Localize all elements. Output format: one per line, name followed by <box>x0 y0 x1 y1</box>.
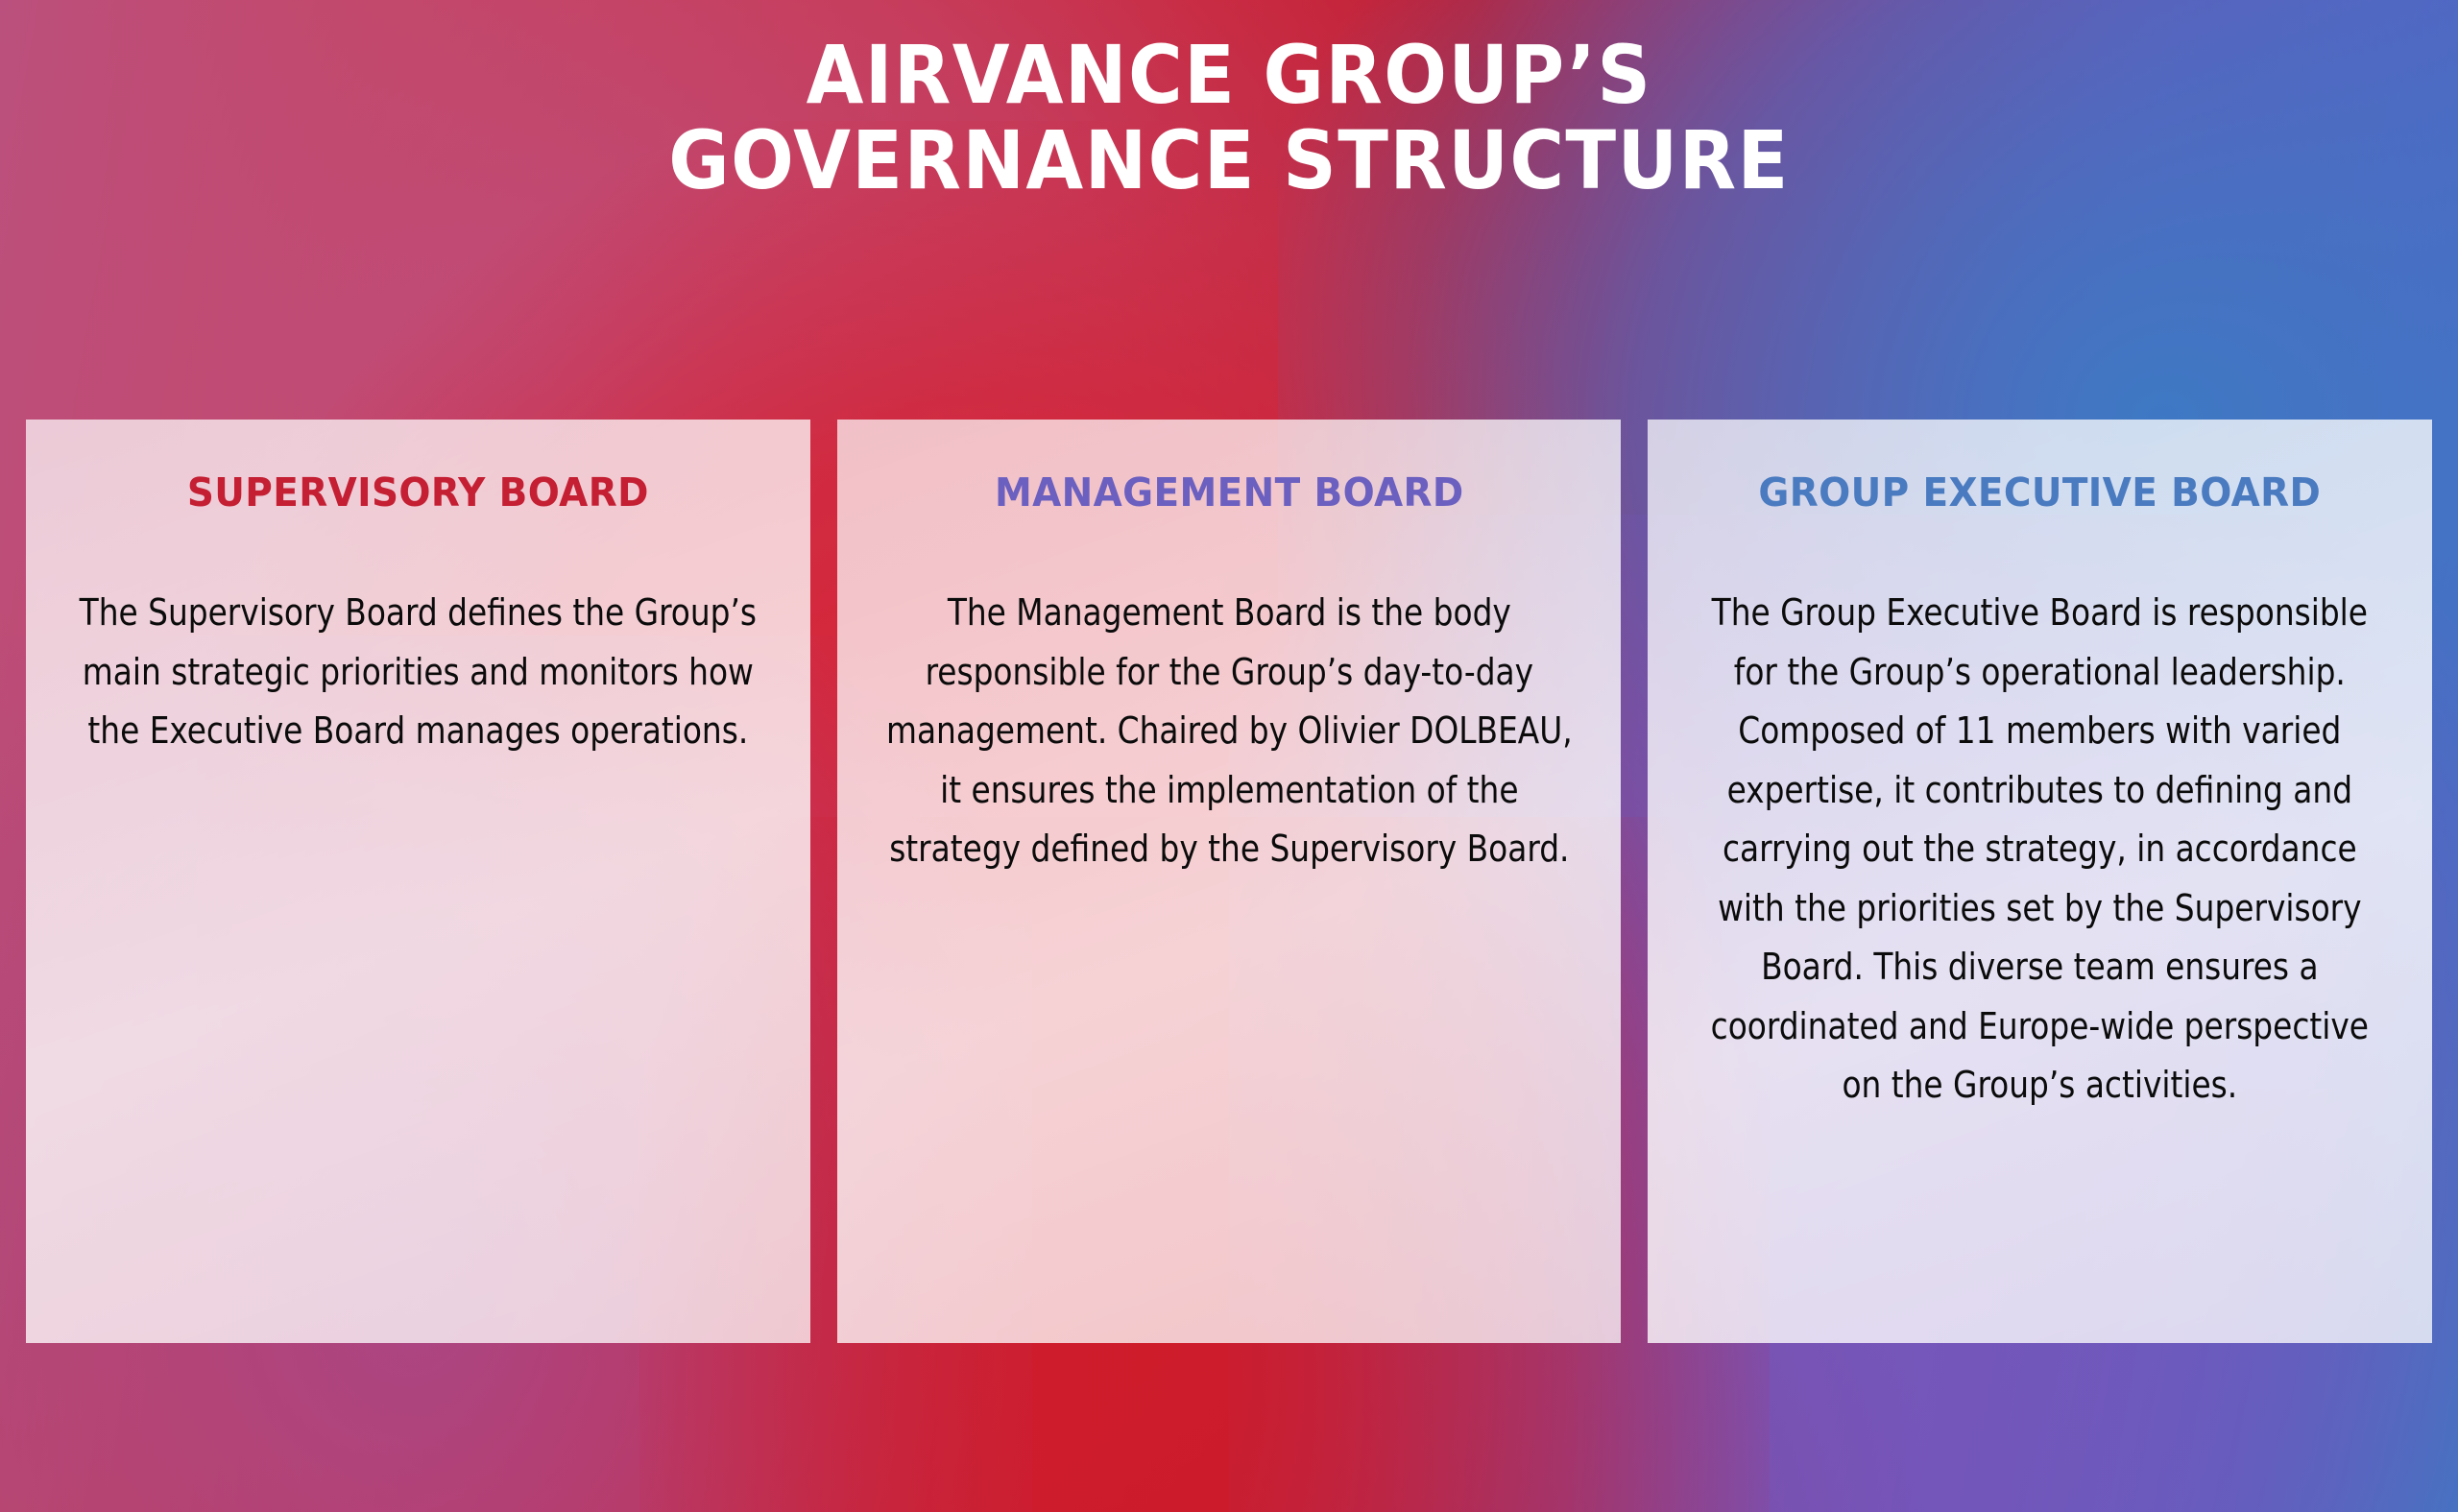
governance-card-row: SUPERVISORY BOARD The Supervisory Board … <box>26 420 2432 1343</box>
slide-title: AIRVANCE GROUP’S GOVERNANCE STRUCTURE <box>0 33 2458 204</box>
governance-structure-slide: AIRVANCE GROUP’S GOVERNANCE STRUCTURE SU… <box>0 0 2458 1512</box>
card-body-supervisory-board: The Supervisory Board defines the Group’… <box>73 584 763 761</box>
card-heading-group-executive-board: GROUP EXECUTIVE BOARD <box>1699 471 2381 515</box>
card-heading-supervisory-board: SUPERVISORY BOARD <box>77 471 759 515</box>
card-body-management-board: The Management Board is the body respons… <box>884 584 1575 879</box>
card-heading-management-board: MANAGEMENT BOARD <box>887 471 1570 515</box>
card-supervisory-board: SUPERVISORY BOARD The Supervisory Board … <box>26 420 810 1343</box>
card-body-group-executive-board: The Group Executive Board is responsible… <box>1695 584 2385 1116</box>
slide-title-line-2: GOVERNANCE STRUCTURE <box>98 118 2359 204</box>
slide-title-line-1: AIRVANCE GROUP’S <box>98 33 2359 118</box>
card-group-executive-board: GROUP EXECUTIVE BOARD The Group Executiv… <box>1648 420 2432 1343</box>
card-management-board: MANAGEMENT BOARD The Management Board is… <box>837 420 1622 1343</box>
